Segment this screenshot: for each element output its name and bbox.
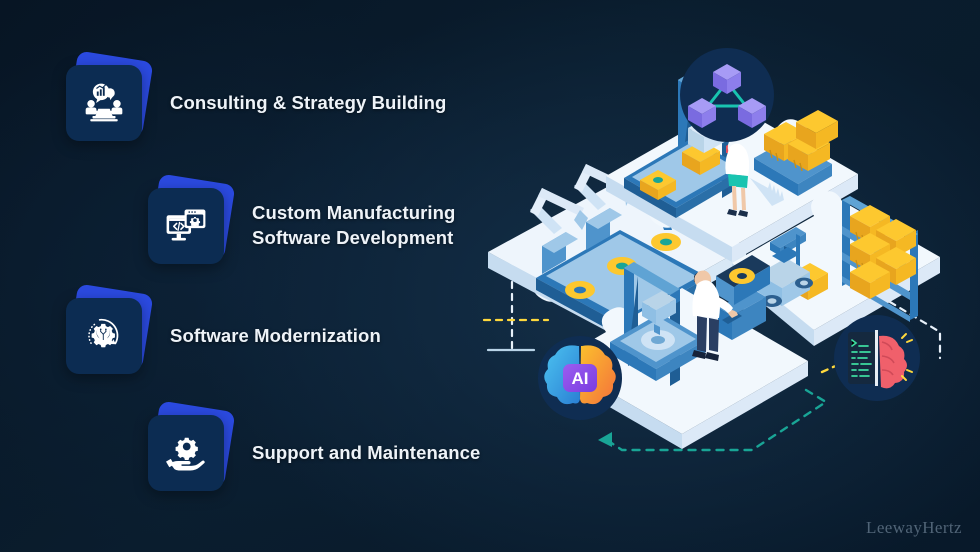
service-item-support-and-maintenance[interactable]: Support and Maintenance	[148, 412, 480, 494]
service-item-label: Support and Maintenance	[252, 441, 480, 466]
badge-ai-label: AI	[572, 369, 589, 388]
badge-artificial-intelligence[interactable]: 0 AI	[538, 336, 622, 420]
tile-front-panel	[148, 188, 224, 264]
tile-front-panel	[66, 65, 142, 141]
service-item-custom-manufacturing-software-development[interactable]: Custom Manufacturing Software Developmen…	[148, 185, 455, 267]
service-icon-tile	[148, 412, 230, 494]
tile-front-panel	[66, 298, 142, 374]
infographic-canvas: Consulting & Strategy Building	[0, 0, 980, 552]
service-icon-tile	[66, 295, 148, 377]
monitor-code-gear-icon	[163, 203, 209, 249]
service-item-label: Software Modernization	[170, 324, 381, 349]
meeting-presentation-icon	[81, 80, 127, 126]
gear-in-hand-icon	[163, 430, 209, 476]
service-icon-tile	[66, 62, 148, 144]
service-icon-tile	[148, 185, 230, 267]
isometric-smart-factory-illustration: 0 AI	[470, 20, 980, 520]
service-list: Consulting & Strategy Building	[0, 0, 500, 552]
service-item-label: Custom Manufacturing Software Developmen…	[252, 201, 455, 250]
service-item-consulting-strategy-building[interactable]: Consulting & Strategy Building	[66, 62, 446, 144]
lightbulb-gear-refresh-icon	[81, 313, 127, 359]
tile-front-panel	[148, 415, 224, 491]
service-item-label: Consulting & Strategy Building	[170, 91, 446, 116]
service-item-software-modernization[interactable]: Software Modernization	[66, 295, 381, 377]
watermark-logo: LeewayHertz	[866, 518, 962, 538]
badge-machine-learning[interactable]	[834, 315, 920, 401]
badge-blockchain[interactable]	[680, 48, 774, 142]
